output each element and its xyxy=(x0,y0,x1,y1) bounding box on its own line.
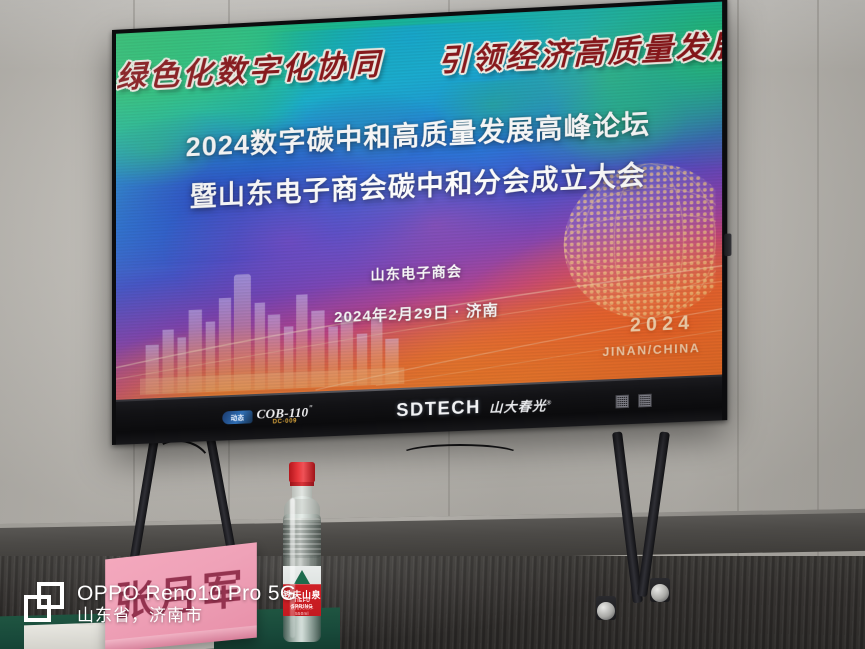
sdtech-wordmark: SDTECH xyxy=(396,397,481,422)
photo-scene: 绿色化数字化协同 引领经济高质量发展 2024数字碳中和高质量发展高峰论坛 暨山… xyxy=(0,0,865,649)
cob-sub-label: DC-009 xyxy=(257,418,313,426)
display-screen[interactable]: 绿色化数字化协同 引领经济高质量发展 2024数字碳中和高质量发展高峰论坛 暨山… xyxy=(116,2,722,400)
cob-badge-icon: 动态 xyxy=(222,410,252,424)
bezel-qr-codes xyxy=(616,394,652,409)
qr-code-icon xyxy=(616,395,629,409)
bottle-grip-rings xyxy=(283,518,321,558)
stand-caster-right-back xyxy=(650,578,670,602)
power-cable-center xyxy=(400,444,520,470)
led-display-panel[interactable]: 绿色化数字化协同 引领经济高质量发展 2024数字碳中和高质量发展高峰论坛 暨山… xyxy=(112,0,727,445)
cob-model-block: COB-110" DC-009 xyxy=(257,405,313,427)
power-button[interactable] xyxy=(724,233,731,256)
watermark-device-model: OPPO Reno10 Pro 5G xyxy=(77,582,297,606)
camera-watermark: OPPO Reno10 Pro 5G 山东省，济南市 xyxy=(24,582,297,625)
sdtech-chinese-name: 山大春光® xyxy=(489,395,552,417)
oppo-reno-logo-icon xyxy=(24,582,66,624)
cob-brand-logo: 动态 COB-110" DC-009 xyxy=(222,405,313,428)
sdtech-chinese-text: 山大春光 xyxy=(489,398,546,416)
watermark-location: 山东省，济南市 xyxy=(77,606,297,625)
bottle-neck xyxy=(292,485,312,499)
cob-model-unit: " xyxy=(308,403,313,412)
logo-square-upper xyxy=(37,582,64,609)
registered-mark: ® xyxy=(547,401,553,407)
watermark-text-block: OPPO Reno10 Pro 5G 山东省，济南市 xyxy=(77,582,297,625)
qr-code-icon xyxy=(639,394,652,408)
stand-caster-right-front xyxy=(596,596,616,620)
sdtech-brand-logo: SDTECH 山大春光® xyxy=(396,394,552,422)
calligraphy-spacer xyxy=(393,72,428,74)
bottle-cap xyxy=(289,462,315,482)
slide-year-badge: 2024 xyxy=(630,312,694,337)
